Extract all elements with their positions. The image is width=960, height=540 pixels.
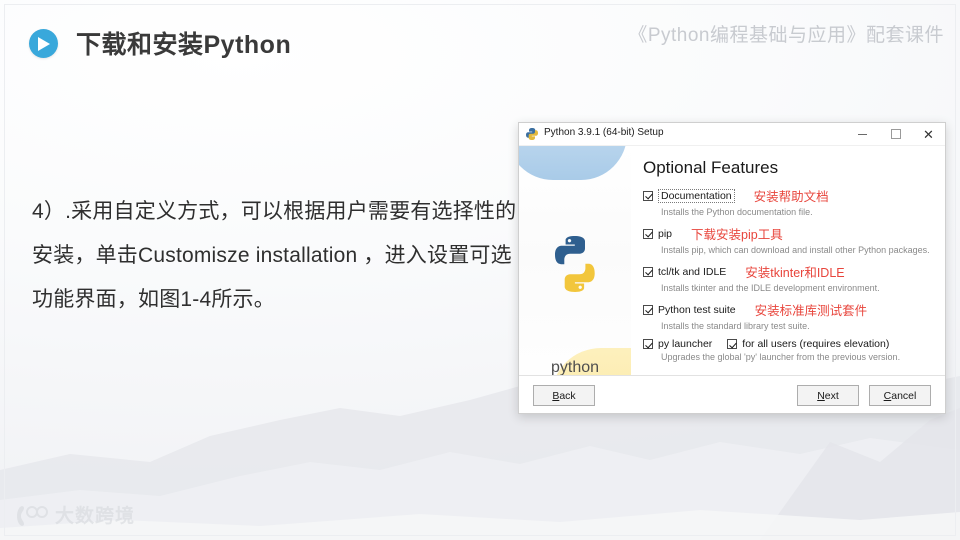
play-circle-icon (29, 29, 58, 58)
feature-note-documentation: Installs the Python documentation file. (661, 207, 935, 217)
next-button[interactable]: Next (797, 385, 859, 406)
feature-tcltk-idle[interactable]: tcl/tk and IDLE 安装tkinter和IDLE Installs … (643, 262, 935, 293)
body-paragraph: 4）.采用自定义方式，可以根据用户需要有选择性的安装，单击Customisze … (32, 190, 518, 322)
watermark: 大数跨境 (14, 504, 135, 528)
back-button[interactable]: Back (533, 385, 595, 406)
dialog-sidebar: python for windows (519, 146, 631, 414)
checkbox-test-suite[interactable] (643, 305, 653, 315)
brand-logo-icon (14, 504, 48, 528)
minimize-icon[interactable] (846, 123, 879, 145)
feature-label-py-launcher: py launcher (658, 338, 712, 350)
dialog-content: Optional Features Documentation 安装帮助文档 I… (631, 146, 945, 414)
feature-label-tcltk-idle: tcl/tk and IDLE (658, 266, 726, 278)
course-subtitle: 《Python编程基础与应用》配套课件 (628, 20, 944, 47)
feature-test-suite[interactable]: Python test suite 安装标准库测试套件 Installs the… (643, 300, 935, 331)
checkbox-for-all-users[interactable] (727, 339, 737, 349)
checkbox-tcltk-idle[interactable] (643, 267, 653, 277)
python-logo-icon (543, 232, 607, 296)
close-icon[interactable]: ✕ (912, 123, 945, 145)
checkbox-py-launcher[interactable] (643, 339, 653, 349)
feature-documentation[interactable]: Documentation 安装帮助文档 Installs the Python… (643, 186, 935, 217)
annotation-tcltk-idle: 安装tkinter和IDLE (745, 262, 844, 281)
sub-option-all-users[interactable]: for all users (requires elevation) (727, 338, 889, 350)
blue-shape-decoration (519, 146, 627, 180)
next-button-rest: ext (825, 390, 839, 402)
feature-label-test-suite: Python test suite (658, 304, 736, 316)
feature-py-launcher[interactable]: py launcher for all users (requires elev… (643, 338, 935, 362)
feature-pip[interactable]: pip 下载安装pip工具 Installs pip, which can do… (643, 224, 935, 255)
dialog-footer: Back Next Cancel (519, 375, 945, 414)
python-setup-icon (525, 127, 539, 141)
page-title: 下载和安装Python (76, 25, 291, 61)
back-button-rest: ack (559, 390, 575, 402)
slide-header: 下载和安装Python 《Python编程基础与应用》配套课件 (0, 0, 960, 72)
annotation-pip: 下载安装pip工具 (691, 224, 783, 243)
feature-note-tcltk-idle: Installs tkinter and the IDLE developmen… (661, 283, 935, 293)
feature-note-test-suite: Installs the standard library test suite… (661, 321, 935, 331)
window-controls: ✕ (846, 123, 945, 145)
annotation-documentation: 安装帮助文档 (754, 186, 829, 205)
checkbox-documentation[interactable] (643, 191, 653, 201)
feature-label-pip: pip (658, 228, 672, 240)
feature-label-for-all-users: for all users (requires elevation) (742, 338, 889, 350)
cancel-button-rest: ancel (891, 390, 916, 402)
feature-note-pip: Installs pip, which can download and ins… (661, 245, 935, 255)
dialog-titlebar[interactable]: Python 3.9.1 (64-bit) Setup ✕ (519, 123, 945, 146)
optional-features-heading: Optional Features (643, 158, 935, 178)
checkbox-pip[interactable] (643, 229, 653, 239)
feature-note-py-launcher: Upgrades the global 'py' launcher from t… (661, 352, 935, 362)
slide: 下载和安装Python 《Python编程基础与应用》配套课件 4）.采用自定义… (0, 0, 960, 540)
feature-label-documentation: Documentation (658, 189, 735, 203)
watermark-text: 大数跨境 (55, 507, 135, 526)
dialog-title: Python 3.9.1 (64-bit) Setup (544, 127, 664, 138)
python-setup-dialog: Python 3.9.1 (64-bit) Setup ✕ (518, 122, 946, 414)
cancel-button[interactable]: Cancel (869, 385, 931, 406)
dialog-body: python for windows Optional Features Doc… (519, 146, 945, 414)
maximize-icon[interactable] (879, 123, 912, 145)
annotation-test-suite: 安装标准库测试套件 (755, 300, 868, 319)
